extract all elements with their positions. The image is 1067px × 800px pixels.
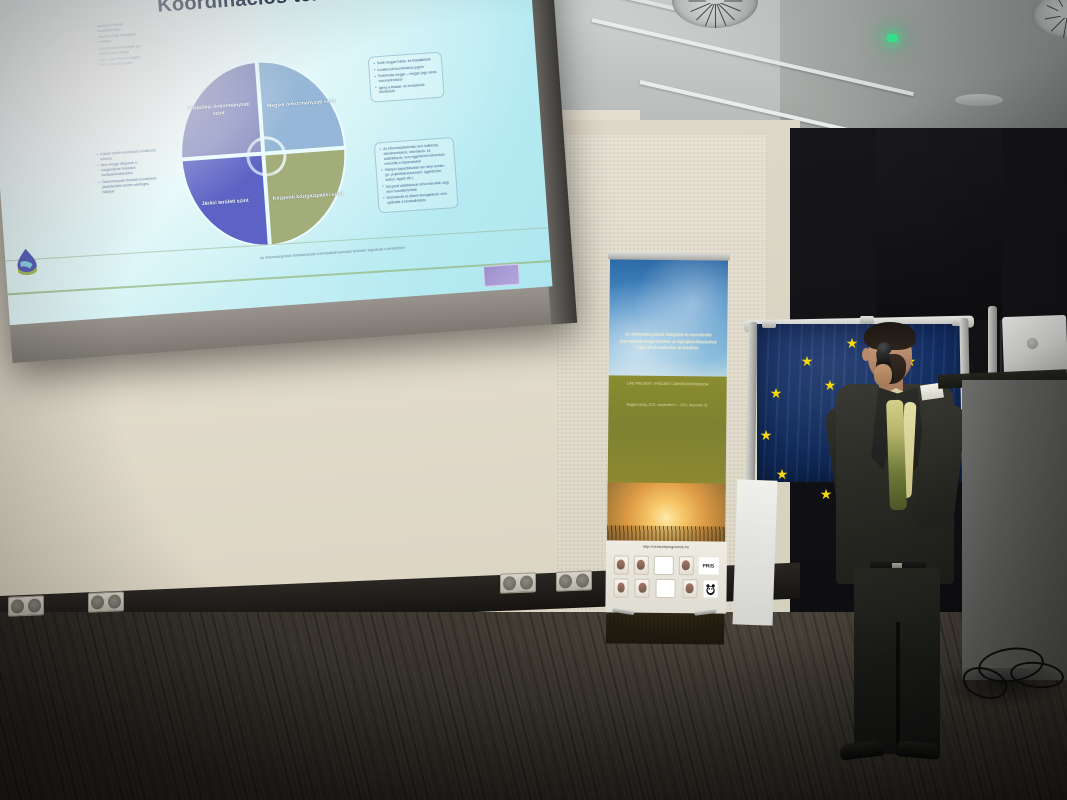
banner-subtitle: LIFE PROJEKT / PROJEKT ZÁRÓKONFERENCIA bbox=[616, 381, 720, 387]
water-drop-logo-icon bbox=[12, 247, 40, 279]
presenter-person bbox=[822, 322, 972, 800]
crest-logo-icon bbox=[633, 556, 648, 575]
quadrant-circle-diagram: Települési önkormányzati szint Megyei ön… bbox=[174, 55, 353, 252]
presenter-hand bbox=[874, 364, 892, 386]
eu-star-icon: ★ bbox=[800, 354, 814, 368]
callout-bullet: Az információáramlás nem hatékony, ellen… bbox=[380, 142, 449, 167]
crest-logo-icon bbox=[635, 579, 650, 598]
wall-socket[interactable] bbox=[8, 595, 44, 617]
callout-bottom-left: A járási szintű koordináció korlátozott … bbox=[91, 144, 165, 201]
banner-leg bbox=[694, 609, 716, 616]
crest-logo-icon bbox=[613, 555, 628, 574]
banner-headline: Az önkormányzatok integráló és koordinál… bbox=[616, 331, 720, 352]
presenter-shoe bbox=[839, 739, 885, 760]
quadrant-label: Megyei önkormányzati szint bbox=[267, 99, 336, 110]
banner-text-panel bbox=[608, 375, 727, 491]
wall-socket[interactable] bbox=[556, 570, 592, 592]
partner-logo-row: PRIS bbox=[611, 554, 721, 576]
dark-door-panel[interactable] bbox=[876, 128, 1002, 320]
crest-logo-icon bbox=[678, 556, 693, 575]
rollup-banner: Az önkormányzatok integráló és koordinál… bbox=[606, 257, 728, 648]
projected-slide: Nehézségek a vertikális önkormányzati Ko… bbox=[0, 0, 552, 325]
shield-logo-icon bbox=[682, 579, 697, 598]
banner-base-legs bbox=[610, 609, 720, 626]
lectern bbox=[962, 380, 1067, 680]
callout-top-left: Anyagi és humán kapacitáshiány Alacsony … bbox=[88, 16, 154, 74]
flipchart-board bbox=[732, 479, 777, 625]
circular-logo-icon bbox=[656, 579, 676, 598]
callout-bullet: Igény, egy erősebb megyei önkormányzati … bbox=[96, 55, 149, 69]
callout-bullet: Önkormányzati társulási koordináció járá… bbox=[99, 176, 160, 195]
flag-clip[interactable] bbox=[762, 320, 776, 328]
pris-logo-icon: PRIS bbox=[698, 557, 718, 574]
trouser-seam bbox=[896, 622, 900, 754]
eu-star-icon: ★ bbox=[775, 467, 789, 481]
banner-leg bbox=[612, 608, 634, 615]
green-indicator-led-icon bbox=[887, 34, 898, 42]
callout-top-right: Szűk megyei hatás- és feladatkörök Korlá… bbox=[368, 52, 445, 103]
quadrant-label: Központi közigazgatási szint bbox=[273, 191, 344, 203]
presenter-ear bbox=[862, 348, 870, 361]
wwf-panda-logo-icon bbox=[703, 580, 717, 597]
ceiling-lamp bbox=[955, 94, 1003, 106]
conference-room-scene: Nehézségek a vertikális önkormányzati Ko… bbox=[0, 0, 1067, 800]
eu-star-icon: ★ bbox=[759, 428, 773, 442]
stamp-logo-icon bbox=[614, 578, 629, 597]
banner-sky-photo bbox=[609, 259, 728, 385]
eu-star-icon: ★ bbox=[769, 386, 783, 400]
wall-socket[interactable] bbox=[88, 591, 124, 613]
wall-socket[interactable] bbox=[500, 572, 536, 594]
laptop-brand-logo-icon bbox=[1027, 338, 1038, 349]
circular-logo-icon bbox=[653, 556, 673, 575]
project-logo-badge-icon bbox=[483, 264, 520, 288]
quadrant-label: Járási területi szint bbox=[202, 198, 249, 208]
partner-logo-row bbox=[610, 577, 720, 599]
projection-screen: Nehézségek a vertikális önkormányzati Ko… bbox=[0, 0, 577, 363]
quadrant-label: Települési önkormányzati szint bbox=[183, 101, 255, 119]
slide-divider bbox=[8, 260, 551, 295]
callout-bottom-right: Az információáramlás nem hatékony, ellen… bbox=[374, 137, 459, 213]
